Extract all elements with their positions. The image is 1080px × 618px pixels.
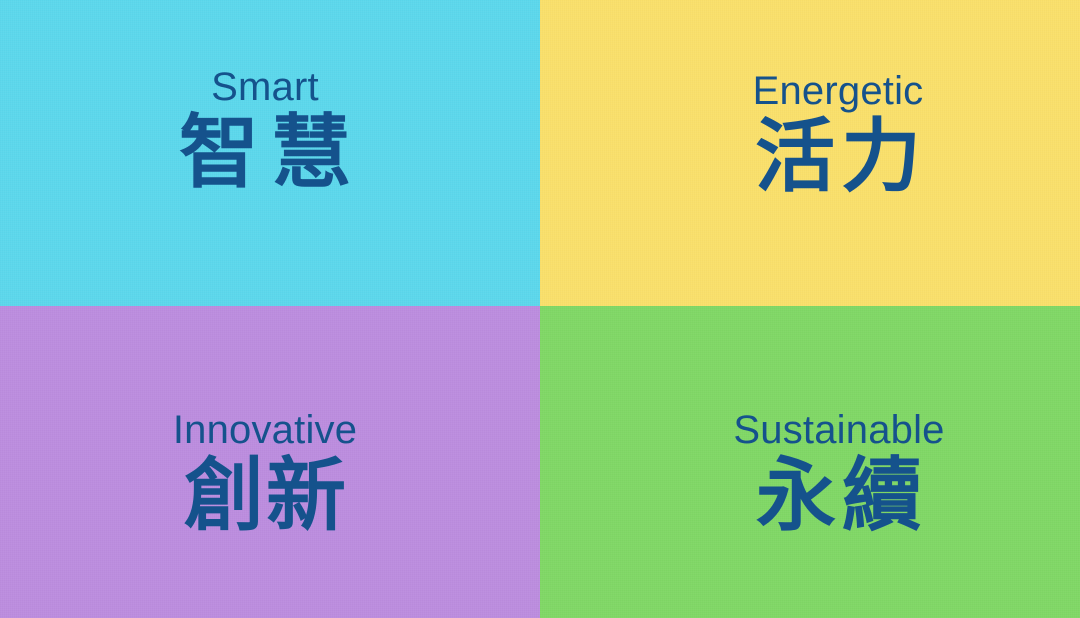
panel-innovative-content: Innovative 創新: [173, 409, 357, 539]
panel-sustainable-label-en: Sustainable: [733, 409, 944, 451]
panel-innovative: Innovative 創新: [0, 306, 540, 618]
panel-innovative-label-en: Innovative: [173, 409, 357, 451]
panel-energetic-label-en: Energetic: [753, 70, 924, 112]
panel-sustainable-label-cjk: 永續: [750, 453, 928, 539]
brand-values-grid: Smart 智慧 Energetic 活力 Innovative 創新 Sust…: [0, 0, 1080, 618]
panel-energetic: Energetic 活力: [540, 0, 1080, 306]
panel-innovative-label-cjk: 創新: [182, 453, 348, 539]
panel-smart-label-en: Smart: [211, 66, 319, 108]
panel-smart: Smart 智慧: [0, 0, 540, 306]
panel-sustainable: Sustainable 永續: [540, 306, 1080, 618]
panel-sustainable-content: Sustainable 永續: [733, 409, 944, 539]
panel-energetic-label-cjk: 活力: [749, 114, 927, 200]
panel-energetic-content: Energetic 活力: [749, 70, 927, 200]
panel-smart-content: Smart 智慧: [167, 66, 363, 196]
panel-smart-label-cjk: 智慧: [167, 110, 363, 196]
